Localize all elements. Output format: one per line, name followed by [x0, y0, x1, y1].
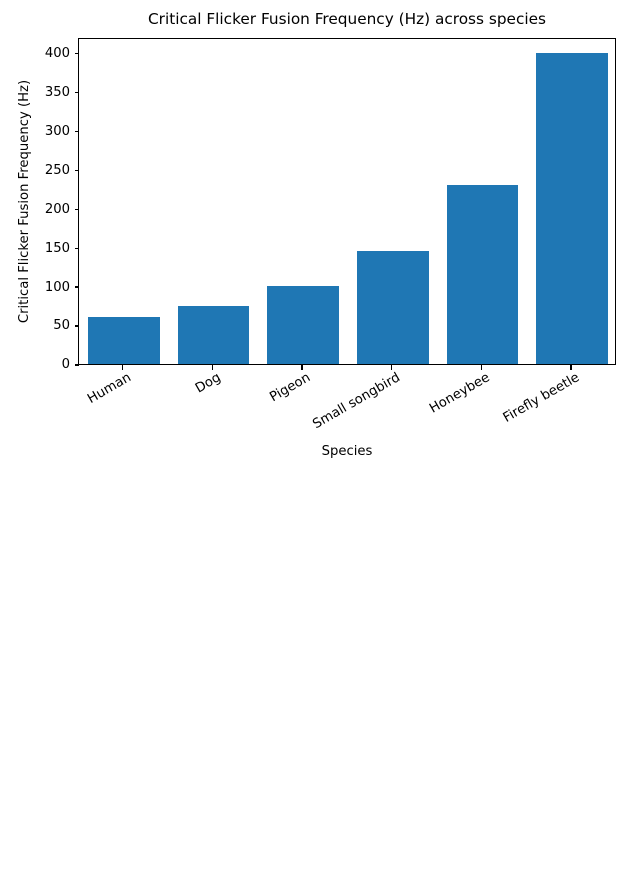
bar	[178, 306, 250, 364]
x-tick-mark	[122, 365, 123, 370]
y-tick-label: 0	[0, 358, 70, 371]
bar-series	[79, 39, 615, 364]
x-axis-label: Species	[78, 444, 616, 459]
x-tick-mark	[570, 365, 571, 370]
x-tick-mark	[212, 365, 213, 370]
y-tick-label: 400	[0, 47, 70, 60]
plot-area	[78, 38, 616, 365]
y-tick-label: 200	[0, 203, 70, 216]
x-tick-mark	[391, 365, 392, 370]
y-tick-label: 300	[0, 125, 70, 138]
chart-title: Critical Flicker Fusion Frequency (Hz) a…	[78, 10, 616, 28]
bar	[267, 286, 339, 364]
bar	[536, 53, 608, 364]
bar	[88, 317, 160, 364]
y-tick-label: 50	[0, 319, 70, 332]
bar	[447, 185, 519, 364]
y-tick-label: 150	[0, 242, 70, 255]
y-tick-label: 350	[0, 86, 70, 99]
x-tick-mark	[301, 365, 302, 370]
bar	[357, 251, 429, 364]
x-tick-mark	[481, 365, 482, 370]
bar-chart-figure: Critical Flicker Fusion Frequency (Hz) a…	[0, 0, 630, 470]
y-tick-label: 250	[0, 164, 70, 177]
y-tick-label: 100	[0, 281, 70, 294]
